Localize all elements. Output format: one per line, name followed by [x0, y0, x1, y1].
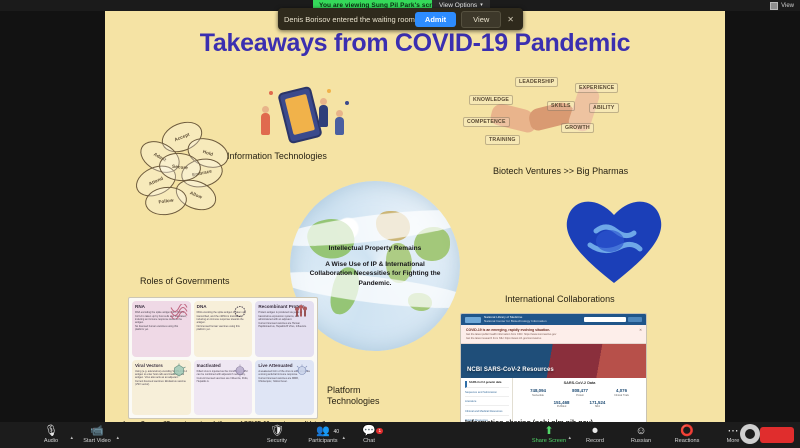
toolbar-security-button[interactable]: 🛡 Security — [254, 426, 300, 444]
ncbi-hero-title: NCBI SARS-CoV-2 Resources — [467, 367, 554, 373]
view-layout-button[interactable]: View — [770, 1, 794, 10]
ncbi-search-input[interactable] — [584, 317, 626, 322]
toolbar-participants-label: Participants — [308, 438, 337, 444]
flower-word: Secure — [160, 162, 200, 171]
handshake-word: SKILLS — [547, 101, 575, 111]
label-biotech-ventures: Biotech Ventures >> Big Pharmas — [493, 166, 628, 176]
rna-helix-icon — [170, 304, 188, 319]
ncbi-stat: 748,094 Nucleotide — [530, 388, 546, 397]
ncbi-stat-value: 151,468 — [554, 400, 570, 405]
toolbar-right-group: ⬆ Share Screen ▴ ⏺ Record ☺ Russian ⭕ Re… — [526, 426, 800, 444]
flower-word: Follow — [146, 196, 186, 207]
meeting-toolbar: 🎙 Audio ▴ 📹 Start Video ▴ 🛡 Security 👥 4… — [0, 422, 800, 448]
toolbar-record-button[interactable]: ⏺ Record — [572, 426, 618, 444]
toolbar-more-label: More — [727, 438, 740, 444]
vaccine-card-bullet: No licensed human vaccines using this pl… — [197, 325, 250, 331]
ncbi-search-area[interactable] — [584, 317, 642, 322]
toolbar-share-label: Share Screen — [532, 438, 566, 444]
toolbar-left-group: 🎙 Audio ▴ 📹 Start Video ▴ — [0, 426, 120, 444]
live-virus-icon — [293, 363, 311, 378]
handshake-word: TRAINING — [485, 135, 520, 145]
biotech-handshake-illustration: LEADERSHIP EXPERIENCE KNOWLEDGE SKILLS A… — [455, 73, 645, 158]
label-platform-technologies: Platform Technologies — [327, 385, 387, 407]
toolbar-chat-button[interactable]: 💬 1 Chat — [346, 426, 392, 444]
waiting-room-notification: Denis Borisov entered the waiting room A… — [278, 8, 523, 30]
handshake-word: ABILITY — [589, 103, 619, 113]
ncbi-nav-item[interactable]: Literature — [465, 400, 509, 406]
label-roles-of-governments: Roles of Governments — [140, 276, 230, 286]
vaccine-card-viral-vectors: Viral Vectors Using (e.g. adenovirus) en… — [132, 360, 191, 416]
ncbi-content: SARS-CoV-2 genetic data Sequence and Sub… — [461, 378, 646, 425]
ncbi-stat-label: PubMed — [554, 405, 570, 408]
globe-body: A Wise Use of IP & International Collabo… — [310, 261, 441, 286]
globe-language-icon: ☺ — [635, 426, 646, 437]
grid-view-icon — [770, 2, 778, 10]
chat-bubble-icon: 💬 — [362, 426, 376, 437]
vaccine-card-recombinant-protein: Recombinant Protein Protein antigen is p… — [255, 301, 314, 357]
ncbi-stat: 151,468 PubMed — [554, 400, 570, 409]
ncbi-stat-value: 171,524 — [590, 400, 606, 405]
ncbi-stat: 171,524 SRA — [590, 400, 606, 409]
video-camera-off-icon: 📹 — [90, 426, 104, 437]
toolbar-audio-label: Audio — [44, 438, 58, 444]
more-options-icon: ⋯ — [728, 426, 739, 437]
ncbi-search-button[interactable] — [628, 317, 642, 322]
chevron-up-icon[interactable]: ▴ — [568, 435, 571, 441]
ncbi-stat: 808,477 Protein — [572, 388, 588, 397]
zoom-meeting-window: Takeaways from COVID-19 Pandemic LEADERS… — [0, 0, 800, 448]
toolbar-interpretation-button[interactable]: ☺ Russian — [618, 426, 664, 444]
toolbar-audio-button[interactable]: 🎙 Audio ▴ — [28, 426, 74, 444]
admit-button[interactable]: Admit — [415, 12, 456, 27]
toolbar-share-screen-button[interactable]: ⬆ Share Screen ▴ — [526, 426, 572, 444]
toolbar-video-label: Start Video — [83, 438, 111, 444]
ncbi-stat: 4,076 Clinical Trials — [614, 388, 629, 397]
vaccine-card-bullet: Current licensed vaccines: Ebolavirus va… — [135, 380, 188, 386]
shield-icon: 🛡 — [270, 426, 284, 437]
ncbi-header: National Library of Medicine National Ce… — [461, 314, 646, 325]
ncbi-stat-label: Protein — [572, 394, 588, 397]
ncbi-stat-label: Clinical Trials — [614, 394, 629, 397]
ncbi-hero-banner: NCBI SARS-CoV-2 Resources — [461, 344, 646, 378]
dna-plasmid-icon — [231, 304, 249, 319]
protein-icon — [293, 304, 311, 319]
view-layout-label: View — [781, 3, 794, 9]
inactivated-virus-icon — [231, 363, 249, 378]
handshake-word: EXPERIENCE — [575, 83, 618, 93]
toolbar-reactions-button[interactable]: ⭕ Reactions — [664, 426, 710, 444]
toolbar-chat-label: Chat — [363, 438, 375, 444]
end-meeting-button[interactable] — [760, 427, 794, 443]
record-icon: ⏺ — [592, 426, 598, 437]
heart-hands-icon — [560, 189, 668, 289]
roles-of-governments-illustration: Accept Hold Adapt Embrace Attend Secure … — [135, 123, 230, 213]
ncbi-alert-title: COVID-19 is an emerging, rapidly evolvin… — [466, 328, 641, 332]
toolbar-security-label: Security — [267, 438, 287, 444]
handshake-word: COMPETENCE — [463, 117, 510, 127]
vaccine-card-bullet: Current licensed vaccines are MMR, Chick… — [258, 377, 311, 383]
microphone-muted-icon: 🎙 — [44, 426, 58, 437]
globe-message: Intellectual Property Remains A Wise Use… — [305, 244, 445, 288]
toolbar-russian-label: Russian — [631, 438, 651, 444]
ncbi-stat-label: Nucleotide — [530, 394, 546, 397]
ncbi-stat-value: 748,094 — [530, 388, 546, 393]
ncbi-nav-item[interactable]: Clinical and Medical Resources — [465, 410, 509, 416]
vaccine-card-bullet: Current licensed vaccines are Influenza,… — [197, 377, 250, 383]
vaccine-card-bullet: Current licensed vaccines are Human Papi… — [258, 322, 311, 328]
left-gutter — [0, 11, 105, 429]
ncbi-alert-body2: Get the latest research from NIH: https:… — [466, 337, 641, 340]
international-collaborations-illustration — [560, 189, 668, 289]
ncbi-sidebar-nav: SARS-CoV-2 genetic data Sequence and Sub… — [461, 378, 513, 425]
toolbar-reactions-label: Reactions — [675, 438, 700, 444]
participants-count: 40 — [333, 429, 339, 435]
ncbi-stats-heading: SARS-CoV-2 Data — [517, 381, 642, 385]
toolbar-record-label: Record — [586, 438, 604, 444]
nlm-logo-icon — [465, 317, 481, 323]
ncbi-alert-close-icon[interactable]: ✕ — [639, 328, 642, 332]
handshake-word: GROWTH — [561, 123, 594, 133]
ncbi-alert-body: Get the latest public health information… — [466, 333, 641, 336]
toolbar-middle-group: 🛡 Security 👥 40 Participants ▴ 💬 1 Chat — [254, 426, 392, 444]
vaccine-card-dna: DNA DNA encoding the spike antigen is ta… — [194, 301, 253, 357]
ncbi-org-line2: National Center for Biotechnology Inform… — [484, 320, 547, 324]
chevron-up-icon[interactable]: ▴ — [70, 435, 73, 441]
chevron-up-icon[interactable]: ▴ — [116, 435, 119, 441]
ncbi-stat-label: SRA — [590, 405, 606, 408]
page-title: Takeaways from COVID-19 Pandemic — [105, 29, 725, 58]
virus-vector-icon — [170, 363, 188, 378]
vaccine-card-live-attenuated: Live Attenuated A weakened form of the v… — [255, 360, 314, 416]
vaccine-platforms-panel: RNA RNA encoding the spike antigen from … — [128, 297, 318, 419]
ncbi-stat-value: 4,076 — [614, 388, 629, 393]
vaccine-card-bullet: No licensed human vaccines using this pl… — [135, 325, 188, 331]
label-information-technologies: Information Technologies — [227, 151, 327, 161]
close-icon[interactable]: ✕ — [504, 13, 517, 26]
toolbar-start-video-button[interactable]: 📹 Start Video ▴ — [74, 426, 120, 444]
ncbi-nav-item[interactable]: SARS-CoV-2 genetic data — [465, 381, 509, 387]
handshake-word: LEADERSHIP — [515, 77, 558, 87]
information-technologies-illustration — [255, 83, 360, 153]
handshake-word: KNOWLEDGE — [469, 95, 513, 105]
label-international-collaborations: International Collaborations — [505, 294, 615, 304]
view-waiting-room-button[interactable]: View — [461, 11, 501, 28]
ncbi-stat-value: 808,477 — [572, 388, 588, 393]
vaccine-card-inactivated: Inactivated Killed virus is injected as … — [194, 360, 253, 416]
self-view-avatar — [740, 424, 760, 444]
chevron-up-icon[interactable]: ▴ — [342, 435, 345, 441]
shared-screen-slide: Takeaways from COVID-19 Pandemic LEADERS… — [105, 11, 725, 429]
reactions-icon: ⭕ — [680, 426, 694, 437]
waiting-room-message: Denis Borisov entered the waiting room — [284, 15, 415, 24]
ncbi-website-screenshot: National Library of Medicine National Ce… — [460, 313, 647, 425]
chat-unread-badge: 1 — [376, 428, 383, 434]
right-gutter — [725, 11, 800, 429]
vaccine-card-rna: RNA RNA encoding the spike antigen from … — [132, 301, 191, 357]
globe-heading: Intellectual Property Remains — [305, 244, 445, 253]
ncbi-stats-panel: SARS-CoV-2 Data 748,094 Nucleotide 808,4… — [513, 378, 646, 425]
ncbi-nav-item[interactable]: Sequence and Submission — [465, 391, 509, 397]
toolbar-participants-button[interactable]: 👥 40 Participants ▴ — [300, 426, 346, 444]
participants-icon: 👥 — [316, 426, 330, 437]
share-screen-icon: ⬆ — [544, 426, 553, 437]
ncbi-covid-alert: COVID-19 is an emerging, rapidly evolvin… — [461, 325, 646, 344]
